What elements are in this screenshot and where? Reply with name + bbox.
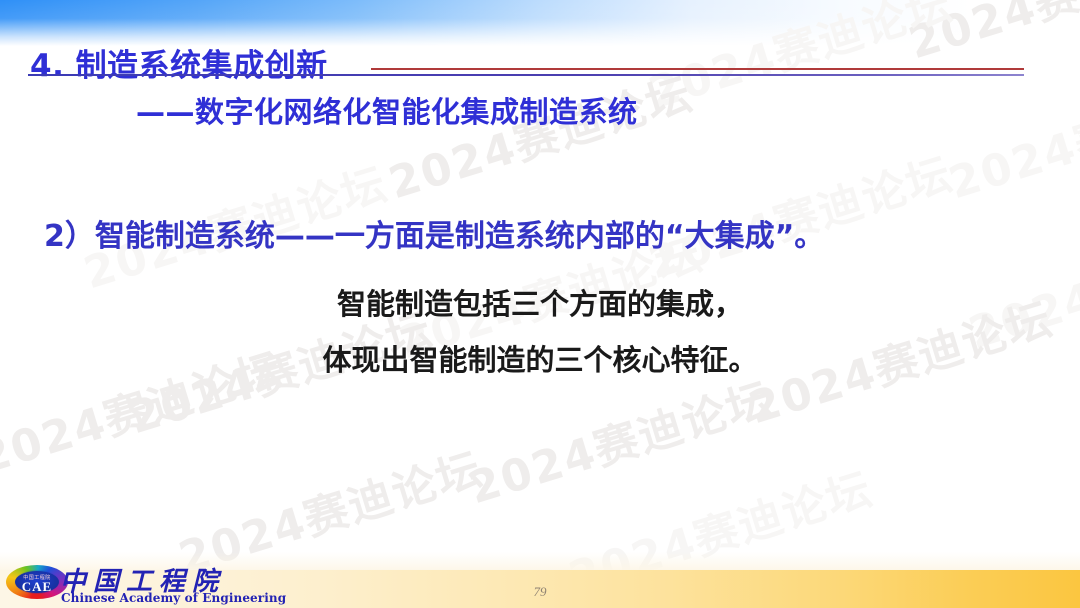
watermark-text: 2024赛迪论坛 bbox=[940, 58, 1080, 211]
body-line-tertiary: 体现出智能制造的三个核心特征。 bbox=[0, 337, 1080, 379]
body-line-primary: 2）智能制造系统——一方面是制造系统内部的“大集成”。 bbox=[44, 211, 824, 255]
title-rule-red bbox=[371, 68, 1024, 70]
watermark-text: 2024赛迪论坛 bbox=[460, 363, 779, 516]
slide-subtitle: ——数字化网络化智能化集成制造系统 bbox=[136, 89, 638, 131]
body-line-secondary: 智能制造包括三个方面的集成， bbox=[0, 281, 1080, 323]
page-number: 79 bbox=[0, 584, 1080, 600]
title-rule-blue bbox=[28, 74, 1024, 76]
slide-title: 4. 制造系统集成创新 bbox=[30, 40, 328, 85]
slide-canvas: 2024赛迪论坛2024赛迪论坛2024赛迪论坛2024赛迪论坛2024赛迪论坛… bbox=[0, 0, 1080, 608]
watermark-text: 2024赛迪论坛 bbox=[380, 58, 699, 211]
